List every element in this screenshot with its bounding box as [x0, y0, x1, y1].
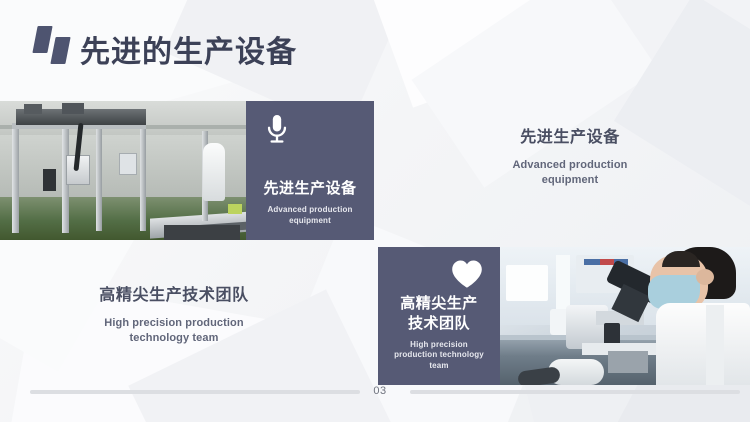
photo-detail: [696, 269, 714, 285]
card-title-en-line: production technology: [386, 350, 492, 360]
card-title-cn: 高精尖生产 技术团队: [386, 294, 492, 332]
text-block-title-en-line: equipment: [452, 173, 688, 188]
text-block-title-en: High precision production technology tea…: [58, 316, 290, 346]
card-title-en-line: equipment: [254, 216, 366, 226]
card-title-cn-line: 技术团队: [386, 314, 492, 333]
photo-detail: [506, 265, 548, 301]
bg-facet: [358, 0, 591, 108]
photo-detail: [164, 225, 240, 240]
text-block-title-cn: 高精尖生产技术团队: [58, 286, 290, 307]
photo-laboratory-microscope: [500, 247, 750, 385]
photo-detail: [24, 104, 42, 114]
text-block-title-cn: 先进生产设备: [452, 128, 688, 149]
text-block-advanced-production-equipment: 先进生产设备 Advanced production equipment: [452, 128, 688, 187]
card-title-en-line: Advanced production: [254, 205, 366, 215]
logo-bar-left: [32, 26, 52, 53]
microphone-icon: [262, 114, 292, 146]
footer-rule-left: [30, 390, 360, 394]
footer-rule-right: [410, 390, 740, 394]
double-slash-logo-icon: [30, 24, 76, 68]
logo-bar-right: [50, 37, 70, 64]
card-title-en-line: High precision: [386, 340, 492, 350]
heart-icon: [451, 259, 483, 289]
text-block-title-en-line: technology team: [58, 331, 290, 346]
photo-detail: [706, 305, 724, 385]
photo-detail: [12, 123, 19, 233]
photo-detail: [119, 153, 137, 175]
card-advanced-production-equipment[interactable]: 先进生产设备 Advanced production equipment: [246, 101, 374, 240]
photo-detail: [43, 169, 56, 191]
text-block-title-en: Advanced production equipment: [452, 158, 688, 188]
card-title-en-line: team: [386, 361, 492, 371]
photo-detail: [608, 351, 648, 373]
photo-detail: [228, 204, 242, 214]
card-text-block: 高精尖生产 技术团队 High precision production tec…: [378, 294, 500, 371]
photo-detail: [62, 103, 84, 114]
photo-detail: [203, 143, 225, 201]
slide-canvas: 先进的生产设备: [0, 0, 750, 422]
card-title-cn-line: 高精尖生产: [386, 294, 492, 313]
page-number: 03: [368, 385, 392, 397]
photo-detail: [600, 259, 614, 265]
photo-detail: [96, 127, 102, 231]
text-block-title-en-line: High precision production: [58, 316, 290, 331]
text-block-title-en-line: Advanced production: [452, 158, 688, 173]
photo-detail: [656, 303, 750, 385]
text-block-high-precision-team: 高精尖生产技术团队 High precision production tech…: [58, 286, 290, 345]
page-title: 先进的生产设备: [80, 27, 297, 71]
card-title-en: Advanced production equipment: [254, 205, 366, 226]
card-text-block: 先进生产设备 Advanced production equipment: [246, 179, 374, 226]
card-title-en: High precision production technology tea…: [386, 340, 492, 371]
photo-detail: [140, 127, 146, 231]
card-title-cn: 先进生产设备: [254, 179, 366, 198]
card-high-precision-team[interactable]: 高精尖生产 技术团队 High precision production tec…: [378, 247, 500, 385]
photo-detail: [556, 255, 570, 311]
